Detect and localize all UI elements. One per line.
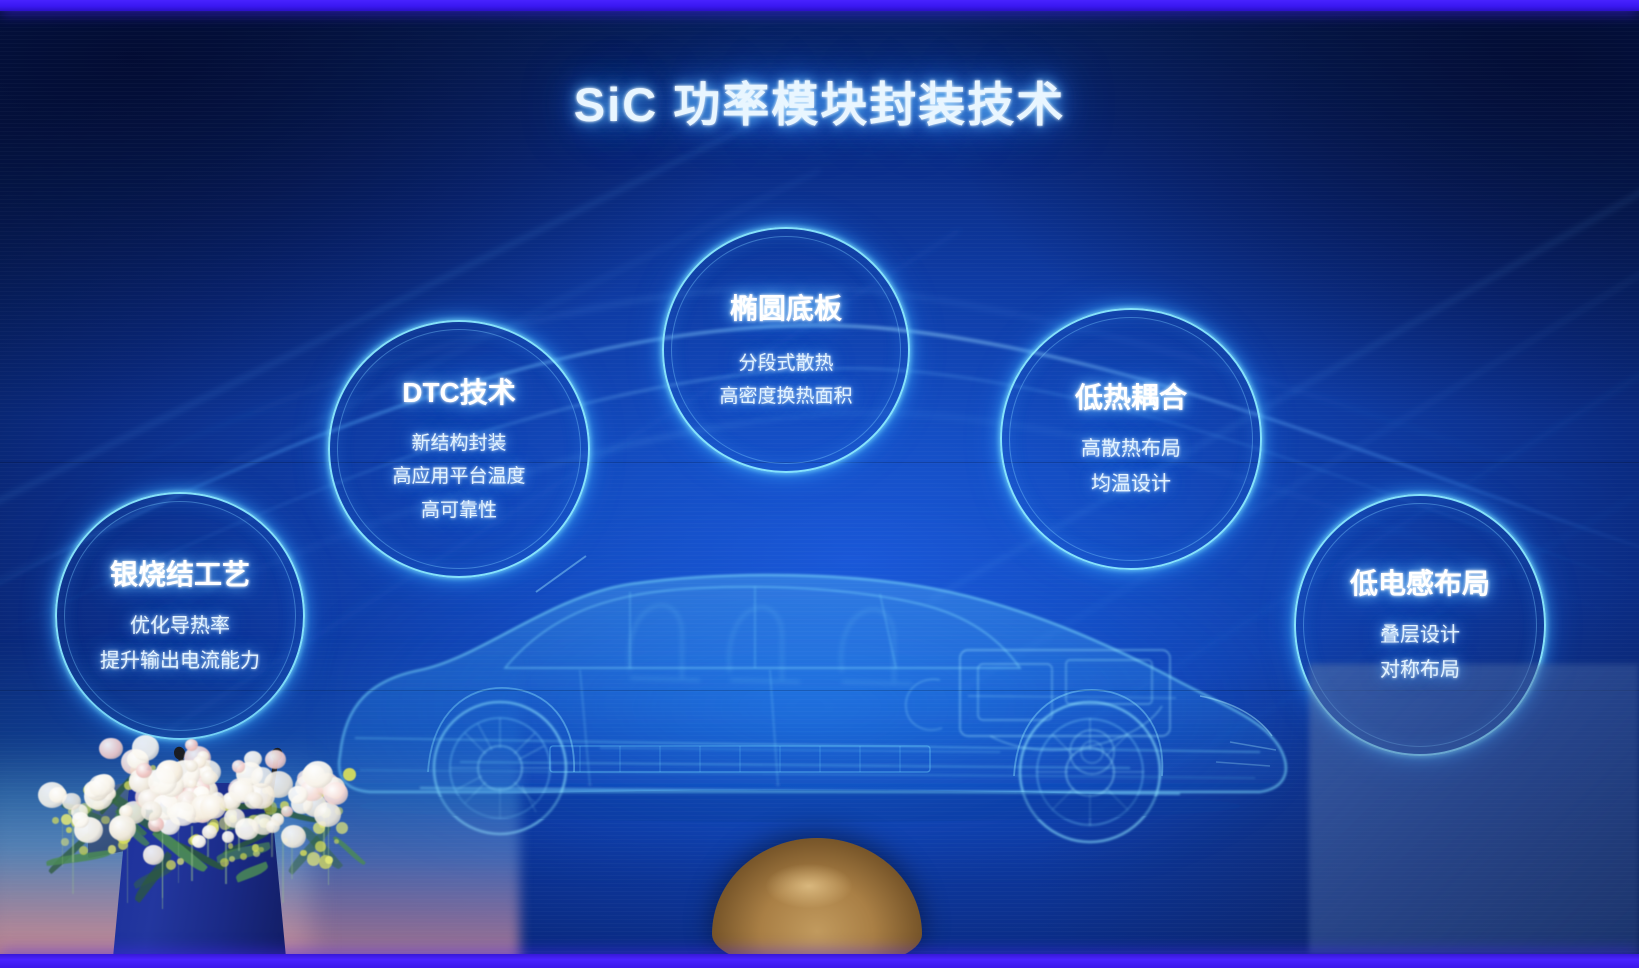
bouquet-rose (323, 782, 347, 804)
bouquet-rose (89, 775, 112, 796)
bouquet-rose (187, 779, 197, 788)
screenshot-stage: SiC 功率模块封装技术 银烧结工艺 优化导热率 提升输出电流能力 DTC技术 … (0, 0, 1639, 968)
stage-led-strip-top (0, 0, 1639, 11)
feature-circle-dtc-technology: DTC技术 新结构封装 高应用平台温度 高可靠性 (328, 320, 590, 578)
bouquet-rose (281, 825, 306, 848)
stage-led-strip-bottom (0, 954, 1639, 968)
bouquet-rose (148, 768, 177, 795)
bouquet-rose (169, 802, 196, 827)
bouquet-rose (202, 825, 218, 839)
bouquet-filler-blossom (334, 839, 339, 844)
feature-line: 分段式散热 (719, 347, 852, 380)
bouquet-rose (141, 801, 163, 821)
bouquet-rose (200, 795, 226, 819)
feature-heading: 低热耦合 (1075, 376, 1187, 416)
bouquet-rose (288, 786, 307, 804)
bouquet-filler-blossom (336, 822, 348, 834)
feature-circle-low-thermal-coupling: 低热耦合 高散热布局 均温设计 (1000, 308, 1262, 570)
bouquet-rose (62, 793, 80, 810)
feature-line: 对称布局 (1350, 653, 1490, 688)
bouquet-filler-blossom (66, 827, 71, 832)
bouquet-rose (99, 738, 122, 759)
bouquet-filler-blossom (108, 845, 117, 854)
bouquet-rose (232, 760, 246, 773)
bouquet-rose (265, 750, 285, 769)
bouquet-filler-blossom (61, 838, 68, 845)
feature-heading: 椭圆底板 (719, 287, 852, 327)
bouquet-rose (143, 845, 164, 864)
feature-line: 叠层设计 (1350, 618, 1490, 653)
head-highlight (766, 864, 852, 908)
bouquet-filler-blossom (343, 768, 356, 781)
feature-heading: 低电感布局 (1350, 562, 1490, 602)
bouquet-filler-blossom (61, 814, 72, 825)
bouquet-filler-blossom (240, 853, 247, 860)
bouquet-filler-blossom (258, 847, 263, 852)
slide-title: SiC 功率模块封装技术 (0, 66, 1639, 135)
feature-line: 高可靠性 (392, 494, 525, 527)
feature-line: 高散热布局 (1075, 432, 1187, 467)
bouquet-filler-blossom (166, 860, 176, 870)
bouquet-rose (235, 818, 258, 840)
bouquet-filler-blossom (228, 843, 233, 848)
feature-circle-elliptical-baseplate: 椭圆底板 分段式散热 高密度换热面积 (662, 227, 910, 473)
hall-wall-right (1309, 664, 1639, 954)
bouquet-rose (136, 763, 152, 777)
bouquet-filler-blossom (177, 858, 184, 865)
bouquet-filler-blossom (220, 858, 229, 867)
feature-line: 高密度换热面积 (719, 380, 852, 413)
bouquet-rose (185, 739, 198, 751)
bouquet-filler-blossom (52, 817, 59, 824)
bouquet-filler-blossom (229, 856, 235, 862)
bouquet-filler-blossom (300, 850, 306, 856)
flower-arrangement (28, 730, 358, 880)
feature-line: 提升输出电流能力 (100, 644, 260, 679)
bouquet-filler-blossom (315, 841, 326, 852)
bouquet-rose (222, 831, 235, 843)
feature-line: 均温设计 (1075, 467, 1187, 502)
feature-heading: 银烧结工艺 (100, 553, 260, 593)
bouquet-leaf (234, 862, 270, 884)
bouquet-rose (314, 802, 341, 827)
feature-line: 高应用平台温度 (392, 460, 525, 493)
bouquet-rose (266, 820, 280, 833)
feature-line: 优化导热率 (100, 609, 260, 644)
feature-heading: DTC技术 (392, 371, 525, 411)
bouquet-filler-blossom (101, 816, 110, 825)
bouquet-rose (132, 735, 160, 760)
bouquet-filler-blossom (325, 856, 333, 864)
feature-line: 新结构封装 (392, 427, 525, 460)
bouquet-stem (162, 827, 164, 909)
bouquet-rose (109, 815, 137, 840)
